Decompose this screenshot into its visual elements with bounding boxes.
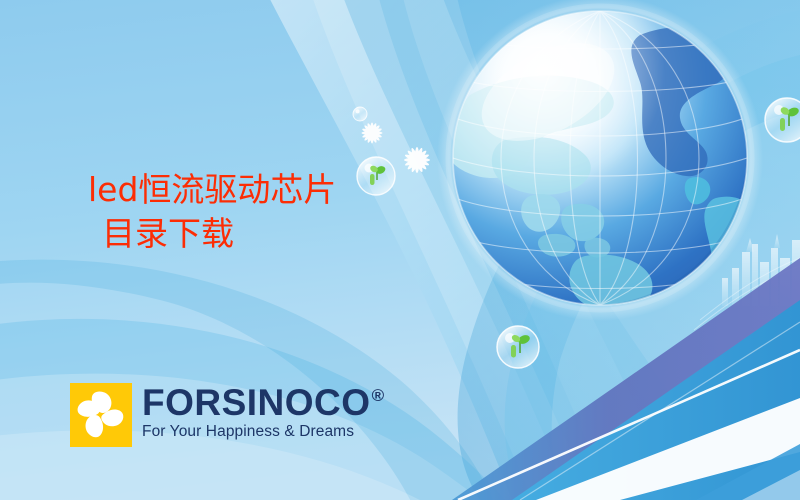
registered-trademark-symbol: ® [372,387,385,404]
logo-text-block: FORSINOCO ® For Your Happiness & Dreams [142,385,385,441]
daisy-icon-2 [404,147,430,173]
brand-logo[interactable]: FORSINOCO ® For Your Happiness & Dreams [70,383,385,447]
logo-wordmark: FORSINOCO [142,385,371,421]
bubble-small [353,107,367,121]
logo-wordmark-row: FORSINOCO ® [142,385,385,421]
logo-tagline: For Your Happiness & Dreams [142,423,385,441]
daisy-icon-1 [362,123,383,144]
banner-canvas: led恒流驱动芯片 目录下载 FORSINOCO ® For Your Happ… [0,0,800,500]
forsinoco-pinwheel-mark-icon [70,383,132,447]
bubble-sprout-1 [357,157,395,195]
bubble-sprout-3 [497,326,539,368]
